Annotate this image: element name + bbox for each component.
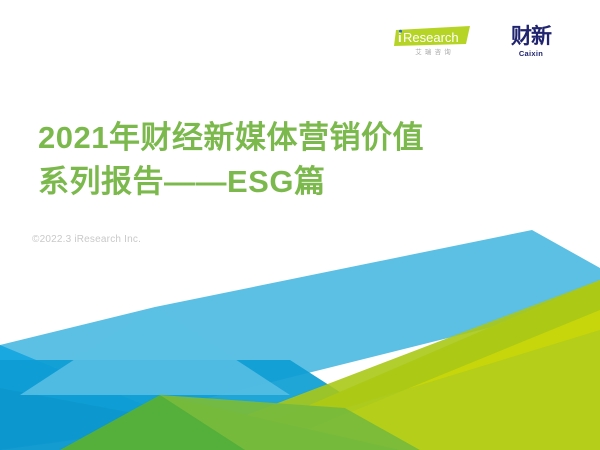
copyright-notice: ©2022.3 iResearch Inc. <box>32 234 141 245</box>
iresearch-logo: i Research 艾瑞咨询 <box>394 26 472 57</box>
svg-text:i: i <box>398 30 402 45</box>
report-title-line-2: 系列报告——ESG篇 <box>38 160 424 204</box>
iresearch-logo-mark: i Research <box>394 26 472 47</box>
iresearch-subtitle: 艾瑞咨询 <box>412 50 454 57</box>
caixin-logo: 财新 Caixin <box>500 26 562 58</box>
report-title: 2021年财经新媒体营销价值 系列报告——ESG篇 <box>38 116 424 204</box>
iresearch-mark-icon: i Research <box>394 26 472 47</box>
header-logos: i Research 艾瑞咨询 财新 Caixin <box>394 26 562 58</box>
report-title-line-1: 2021年财经新媒体营销价值 <box>38 116 424 160</box>
caixin-subtitle: Caixin <box>519 50 543 58</box>
svg-text:Research: Research <box>403 30 459 45</box>
caixin-logo-mark: 财新 <box>511 26 551 48</box>
report-cover-page: i Research 艾瑞咨询 财新 Caixin 2021年财经新媒体营销价值… <box>0 0 600 450</box>
decorative-geometry <box>0 0 600 450</box>
